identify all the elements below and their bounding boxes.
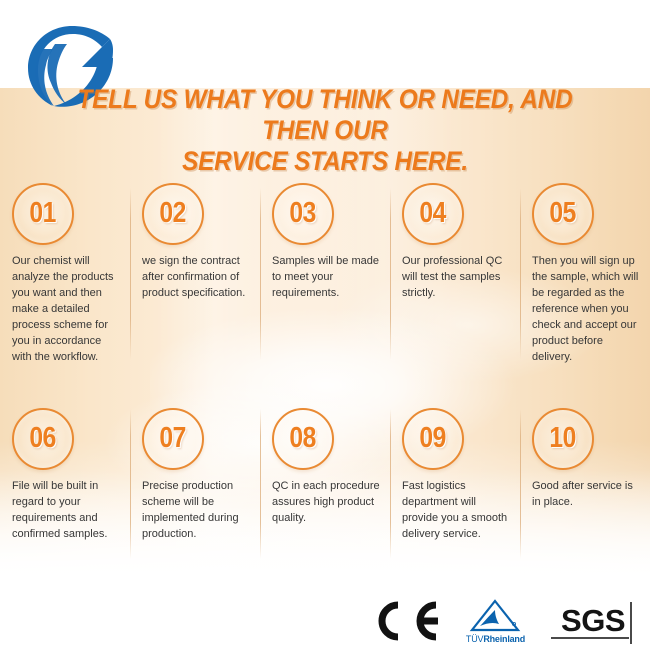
step-number-badge-01: 01 (12, 183, 74, 245)
step-item-06: 06 File will be built in regard to your … (0, 395, 130, 575)
steps-grid: 01 Our chemist will analyze the products… (0, 170, 650, 575)
step-item-03: 03 Samples will be made to meet your req… (260, 170, 390, 395)
column-divider (390, 188, 391, 360)
tuv-rheinland-logo-icon: TÜVRheinland (466, 599, 525, 644)
step-description: QC in each procedure assures high produc… (268, 478, 382, 526)
step-number-badge-10: 10 (532, 408, 594, 470)
page-title: TELL US WHAT YOU THINK OR NEED, AND THEN… (58, 84, 593, 177)
sgs-rule-left (551, 637, 629, 639)
step-number-label: 10 (550, 424, 577, 453)
step-item-09: 09 Fast logistics department will provid… (390, 395, 520, 575)
step-number-label: 06 (30, 424, 57, 453)
sgs-label: SGS (561, 605, 625, 636)
step-number-badge-04: 04 (402, 183, 464, 245)
column-divider (130, 409, 131, 559)
step-description: Our professional QC will test the sample… (398, 253, 512, 301)
column-divider (260, 188, 261, 360)
tuv-rheinland-label: TÜVRheinland (466, 634, 525, 644)
column-divider (520, 409, 521, 559)
column-divider (520, 188, 521, 360)
ce-mark-icon (368, 601, 440, 641)
step-number-badge-08: 08 (272, 408, 334, 470)
step-description: Fast logistics department will provide y… (398, 478, 512, 542)
step-number-badge-07: 07 (142, 408, 204, 470)
column-divider (390, 409, 391, 559)
step-description: we sign the contract after confirmation … (138, 253, 252, 301)
step-number-badge-05: 05 (532, 183, 594, 245)
step-description: Samples will be made to meet your requir… (268, 253, 382, 301)
step-item-07: 07 Precise production scheme will be imp… (130, 395, 260, 575)
step-number-label: 02 (160, 199, 187, 228)
step-description: File will be built in regard to your req… (8, 478, 122, 542)
step-description: Good after service is in place. (528, 478, 642, 510)
certification-bar: TÜVRheinland SGS (0, 592, 650, 650)
step-number-badge-03: 03 (272, 183, 334, 245)
step-description: Our chemist will analyze the products yo… (8, 253, 122, 365)
steps-row-2: 06 File will be built in regard to your … (0, 395, 650, 575)
step-number-badge-02: 02 (142, 183, 204, 245)
step-number-badge-09: 09 (402, 408, 464, 470)
sgs-rule-right (630, 602, 632, 644)
step-item-05: 05 Then you will sign up the sample, whi… (520, 170, 650, 395)
column-divider (260, 409, 261, 559)
step-item-01: 01 Our chemist will analyze the products… (0, 170, 130, 395)
step-number-label: 07 (160, 424, 187, 453)
step-number-label: 01 (30, 199, 57, 228)
step-item-04: 04 Our professional QC will test the sam… (390, 170, 520, 395)
step-item-02: 02 we sign the contract after confirmati… (130, 170, 260, 395)
step-item-10: 10 Good after service is in place. (520, 395, 650, 575)
step-number-label: 09 (420, 424, 447, 453)
step-item-08: 08 QC in each procedure assures high pro… (260, 395, 390, 575)
step-number-label: 08 (290, 424, 317, 453)
step-number-badge-06: 06 (12, 408, 74, 470)
sgs-logo-icon: SGS (551, 602, 632, 641)
steps-row-1: 01 Our chemist will analyze the products… (0, 170, 650, 395)
step-number-label: 05 (550, 199, 577, 228)
step-description: Precise production scheme will be implem… (138, 478, 252, 542)
infographic-page: TELL US WHAT YOU THINK OR NEED, AND THEN… (0, 0, 650, 650)
column-divider (130, 188, 131, 360)
step-number-label: 04 (420, 199, 447, 228)
step-number-label: 03 (290, 199, 317, 228)
step-description: Then you will sign up the sample, which … (528, 253, 642, 365)
